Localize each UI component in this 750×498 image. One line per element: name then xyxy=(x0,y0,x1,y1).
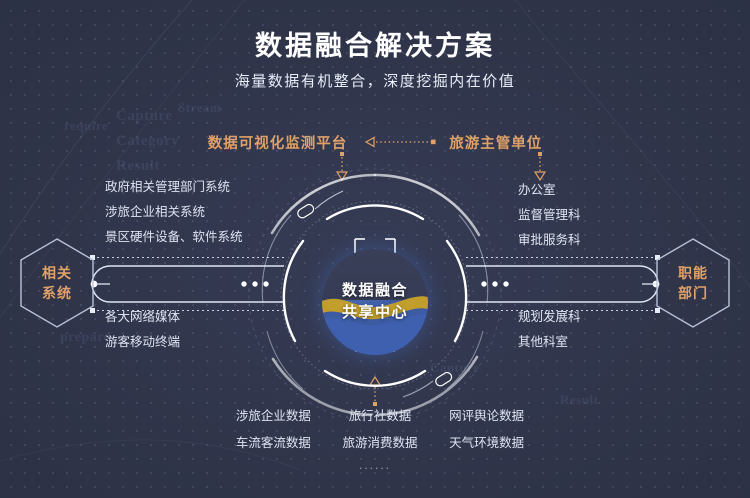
list-item: 旅游消费数据 xyxy=(332,432,429,454)
right-bottom-column: 规划发展科 其他科室 xyxy=(518,305,581,355)
data-fusion-sphere: 数据融合 共享中心 xyxy=(322,249,428,355)
center-line2: 共享中心 xyxy=(342,302,408,325)
hex-right-line1: 职能 xyxy=(678,263,708,283)
bottom-data-grid: 涉旅企业数据 旅行社数据 网评舆论数据 车流客流数据 旅游消费数据 天气环境数据 xyxy=(225,405,535,454)
list-item: 网评舆论数据 xyxy=(438,405,535,427)
list-item: 审批服务科 xyxy=(518,228,581,253)
list-item: 景区硬件设备、软件系统 xyxy=(105,225,243,250)
watermark-text: prepare xyxy=(60,330,110,346)
label-visualization-platform: 数据可视化监测平台 xyxy=(208,132,348,153)
hex-left-line2: 系统 xyxy=(42,283,72,303)
hexagon-related-systems[interactable]: 相关 系统 xyxy=(14,235,100,331)
bottom-ellipsis: ...... xyxy=(0,458,750,472)
list-item: 涉旅企业数据 xyxy=(225,405,322,427)
center-label: 数据融合 共享中心 xyxy=(322,249,428,355)
list-item: 政府相关管理部门系统 xyxy=(105,175,243,200)
left-bottom-column: 各大网络媒体 游客移动终端 xyxy=(105,305,180,355)
list-item: 监督管理科 xyxy=(518,203,581,228)
page-title: 数据融合解决方案 xyxy=(0,24,750,63)
list-item: 天气环境数据 xyxy=(438,432,535,454)
hex-left-line1: 相关 xyxy=(42,263,72,283)
center-sphere-wrap: 数据融合 共享中心 xyxy=(295,222,455,382)
list-item: 规划发展科 xyxy=(518,305,581,330)
dotted-arrow-connector xyxy=(355,135,441,149)
list-item: 车流客流数据 xyxy=(225,432,322,454)
list-item: 办公室 xyxy=(518,178,581,203)
infographic-canvas: Capture Category Result Stream require p… xyxy=(0,0,750,498)
list-item: 旅行社数据 xyxy=(332,405,429,427)
center-line1: 数据融合 xyxy=(342,280,408,303)
page-subtitle: 海量数据有机整合，深度挖掘内在价值 xyxy=(0,70,750,91)
hex-right-line2: 部门 xyxy=(678,283,708,303)
watermark-text: Result xyxy=(560,392,598,408)
watermark-text: Result xyxy=(116,158,160,175)
hexagon-functional-departments[interactable]: 职能 部门 xyxy=(650,235,736,331)
list-item: 其他科室 xyxy=(518,330,581,355)
list-item: 涉旅企业相关系统 xyxy=(105,200,243,225)
right-top-column: 办公室 监督管理科 审批服务科 xyxy=(518,178,581,253)
label-tourism-authority: 旅游主管单位 xyxy=(449,132,542,153)
top-label-row: 数据可视化监测平台 旅游主管单位 xyxy=(0,131,750,153)
list-item: 游客移动终端 xyxy=(105,330,180,355)
watermark-text: Capture xyxy=(116,108,173,125)
watermark-text: Stream xyxy=(178,100,221,116)
list-item: 各大网络媒体 xyxy=(105,305,180,330)
left-top-column: 政府相关管理部门系统 涉旅企业相关系统 景区硬件设备、软件系统 xyxy=(105,175,243,250)
